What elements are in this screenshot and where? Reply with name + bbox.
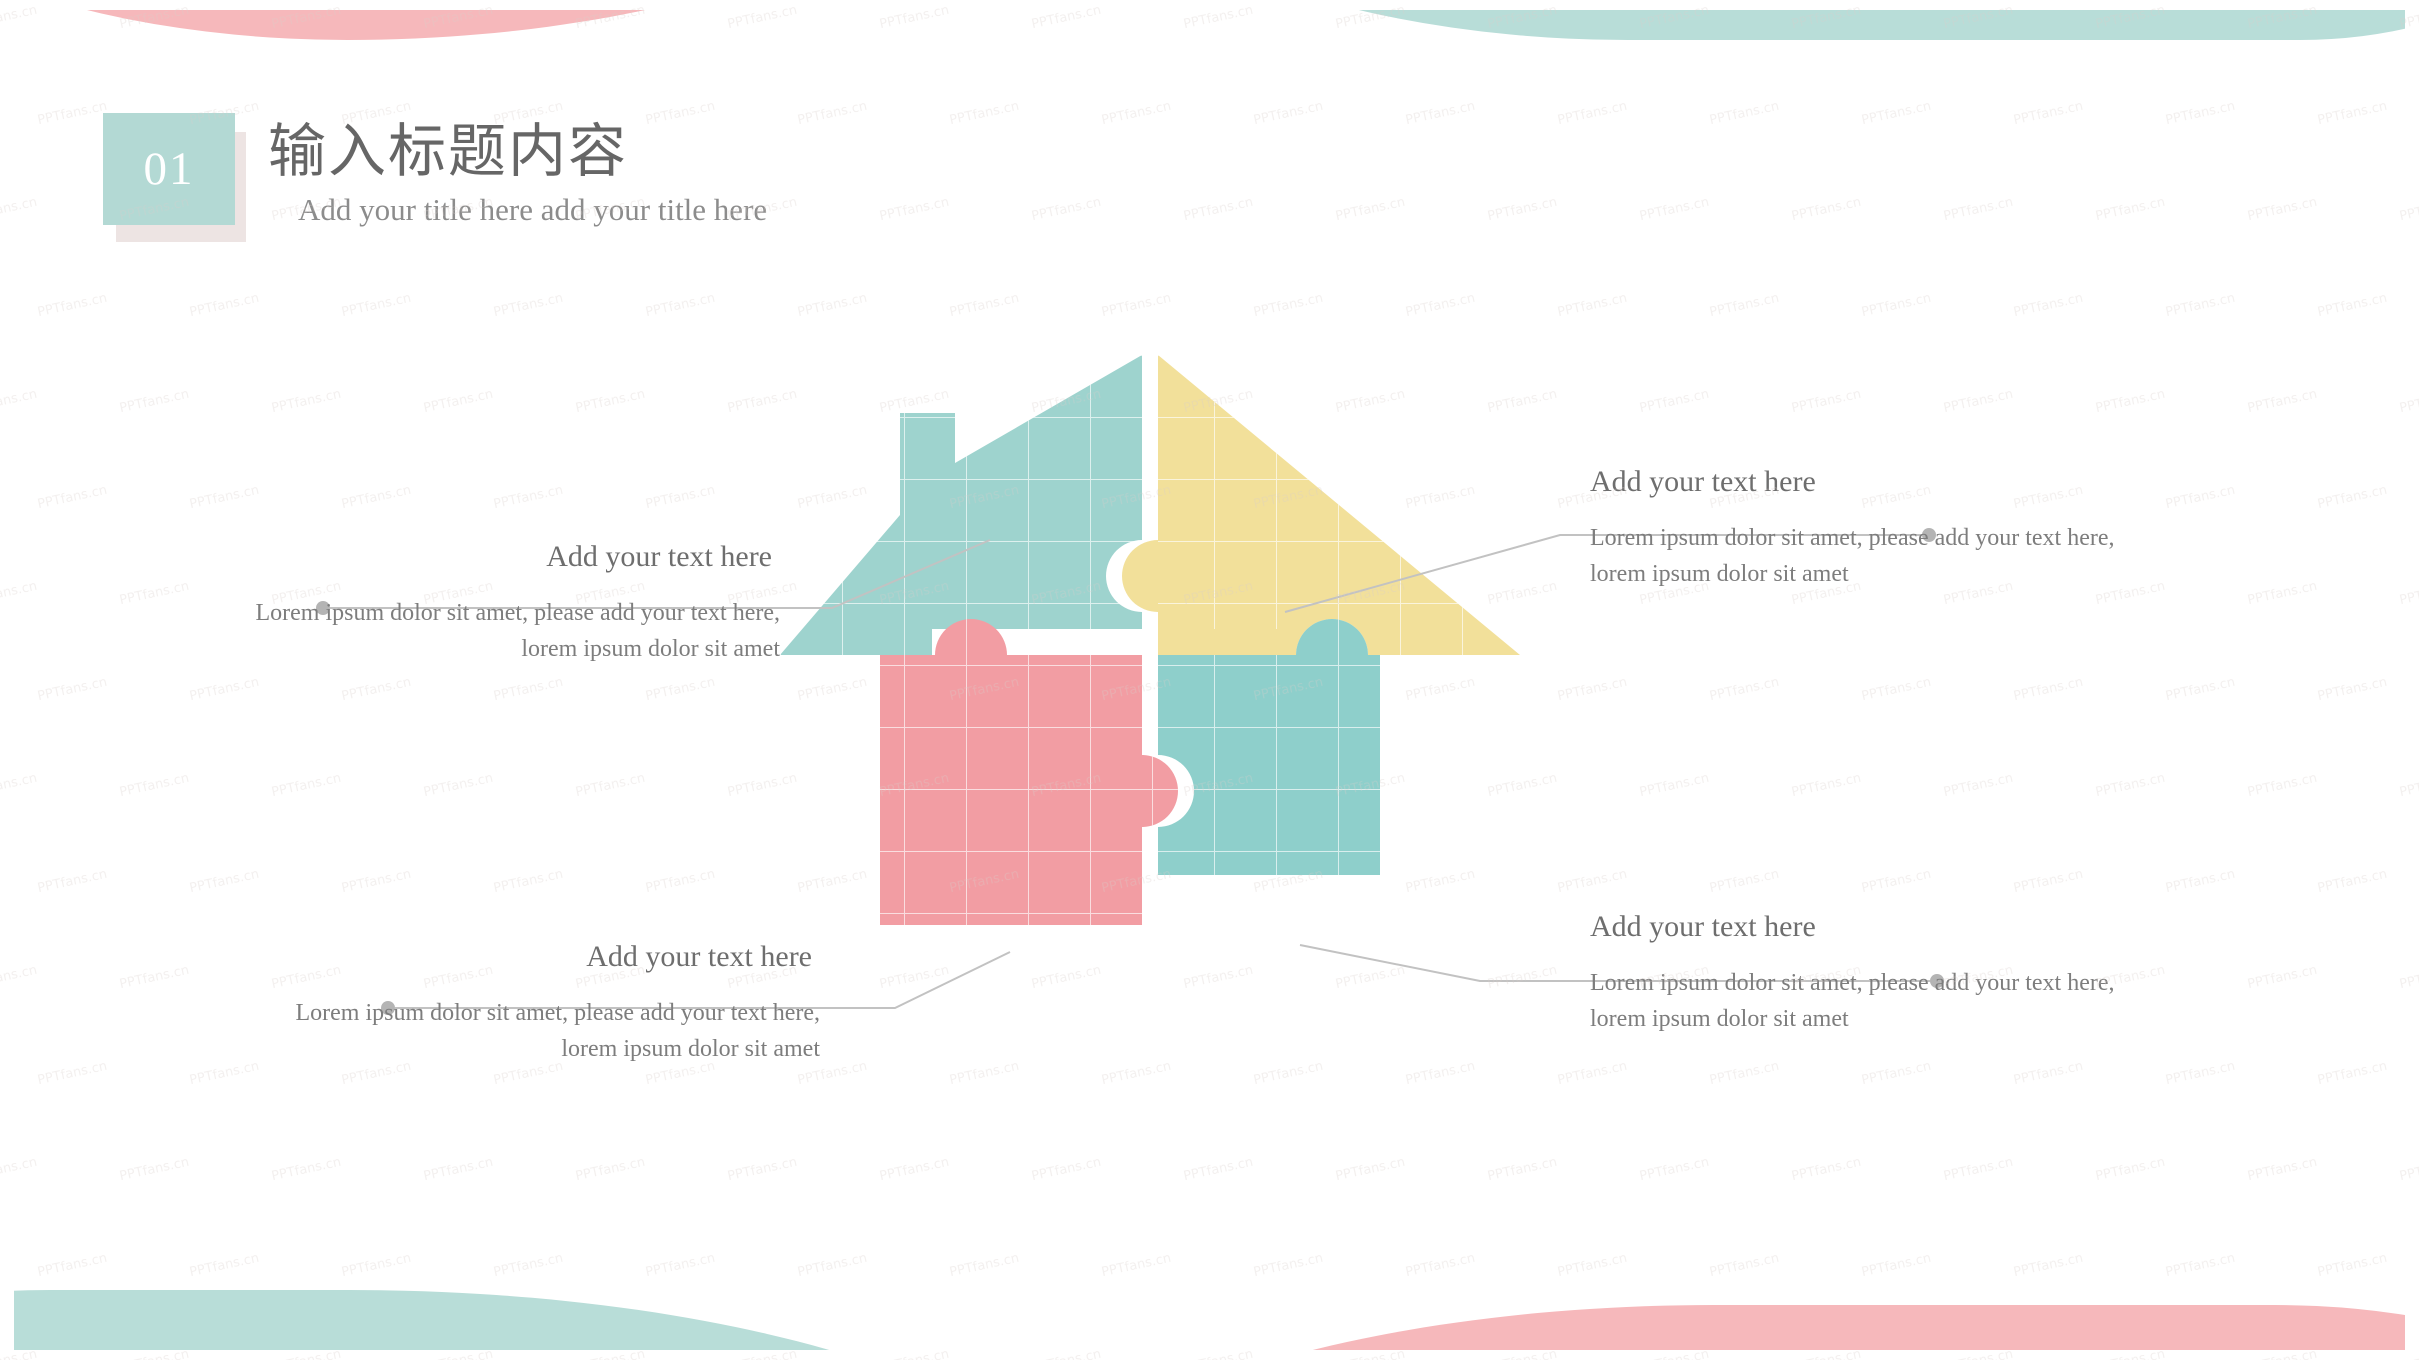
callout-bottom-left-title: Add your text here — [275, 940, 820, 974]
callout-top-right-body: Lorem ipsum dolor sit amet, please add y… — [1590, 521, 2150, 592]
callout-bottom-left: Add your text here Lorem ipsum dolor sit… — [275, 940, 820, 1067]
callout-bottom-left-body: Lorem ipsum dolor sit amet, please add y… — [275, 996, 820, 1067]
leader-lines — [0, 0, 2419, 1360]
slide: 01 输入标题内容 Add your title here add your t… — [0, 0, 2419, 1360]
callout-top-left-body: Lorem ipsum dolor sit amet, please add y… — [230, 596, 780, 667]
callout-top-right-title: Add your text here — [1590, 465, 2150, 499]
callout-bottom-right-title: Add your text here — [1590, 910, 2150, 944]
callout-top-right: Add your text here Lorem ipsum dolor sit… — [1590, 465, 2150, 592]
callout-top-left: Add your text here Lorem ipsum dolor sit… — [230, 540, 780, 667]
callout-top-left-title: Add your text here — [230, 540, 780, 574]
callout-bottom-right: Add your text here Lorem ipsum dolor sit… — [1590, 910, 2150, 1037]
callout-bottom-right-body: Lorem ipsum dolor sit amet, please add y… — [1590, 966, 2150, 1037]
